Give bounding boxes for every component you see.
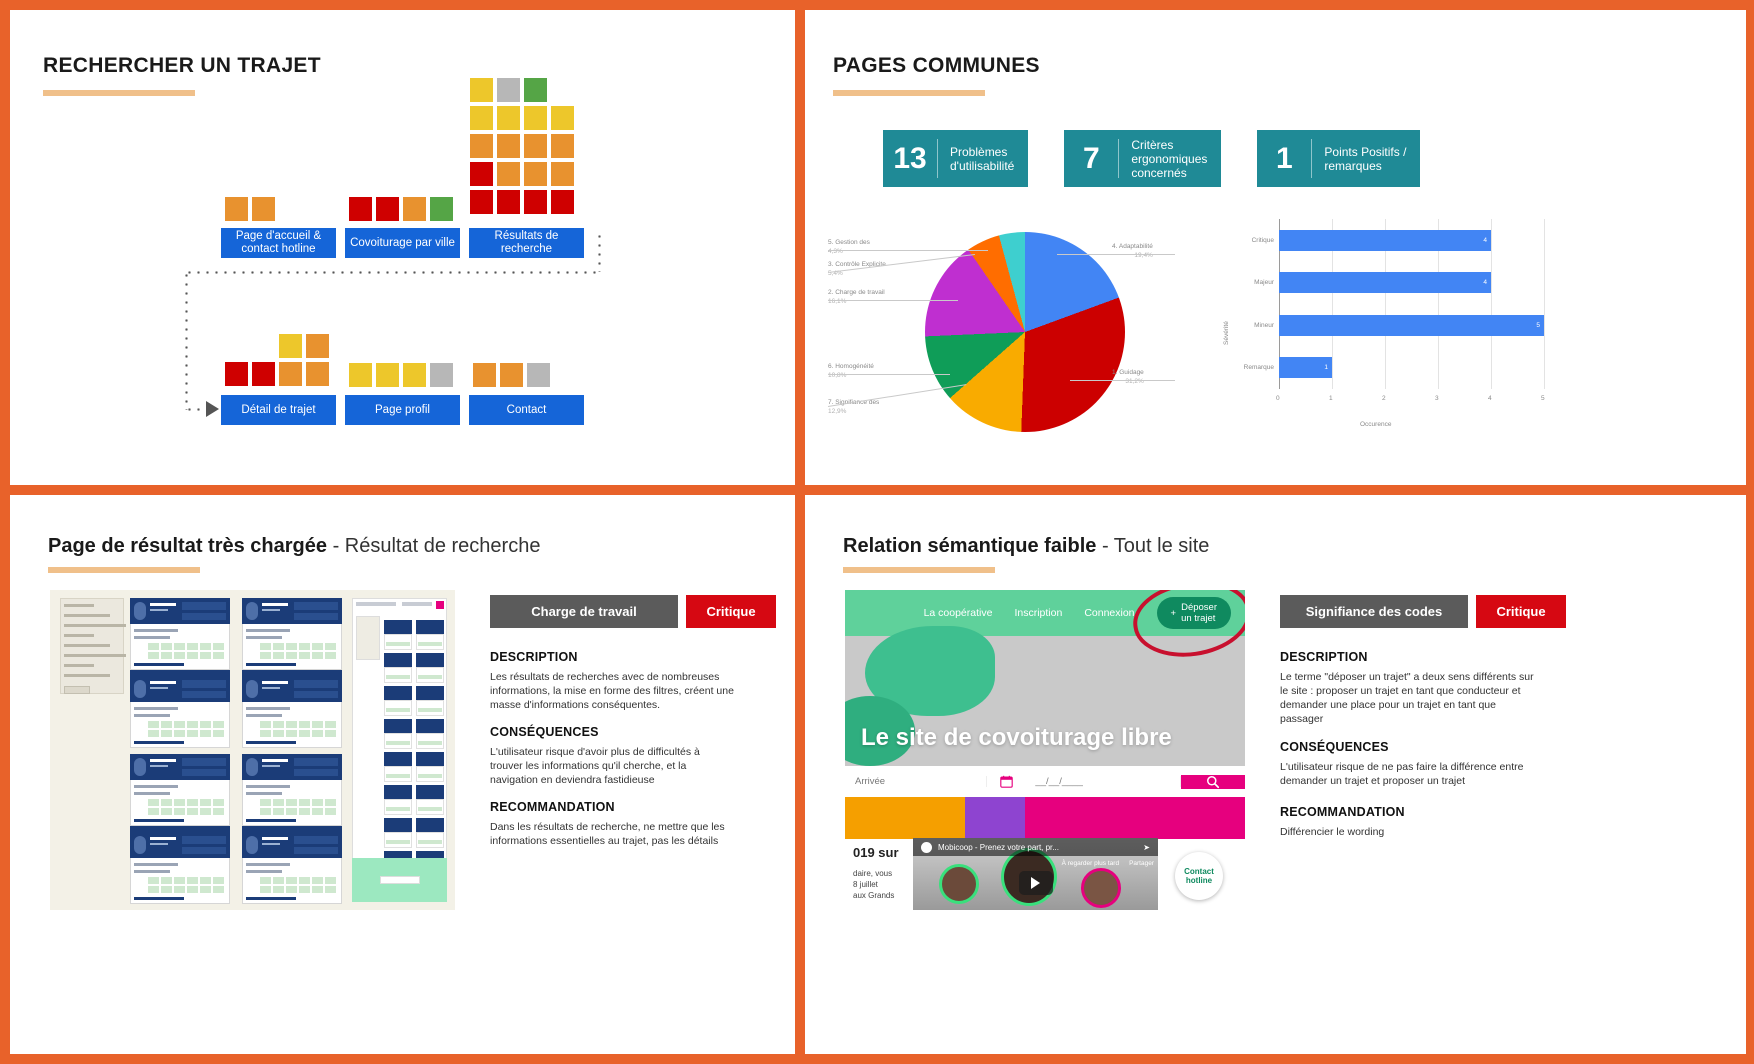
mock-line: [134, 897, 184, 900]
kpi-label-line: d'utilisabilité: [950, 159, 1014, 173]
section-body-description: Les résultats de recherches avec de nomb…: [490, 670, 735, 712]
mock-availability-cell: [273, 877, 284, 884]
pie-callout-guidage: 1. Guidage 31,2%: [1112, 368, 1144, 386]
tile: [251, 361, 276, 387]
mock-line: [246, 819, 296, 822]
mock-availability-cell: [325, 808, 336, 815]
section-heading-recommandation: RECOMMANDATION: [490, 800, 615, 814]
node-contact[interactable]: Contact: [469, 395, 584, 425]
pie-leader-line: [828, 384, 966, 407]
kpi-number: 1: [1257, 130, 1311, 187]
mock-button: [64, 686, 90, 694]
site-search-bar: Arrivée __/__/____: [845, 766, 1245, 797]
bar-chart-plot-area: 012345Critique4Majeur4Mineur5Remarque1: [1237, 219, 1552, 396]
mock-line: [246, 897, 296, 900]
tile-group-profil: [347, 361, 463, 389]
mock-availability-cell: [273, 652, 284, 659]
page-title-light: - Résultat de recherche: [327, 535, 540, 557]
mock-availability-cell: [325, 799, 336, 806]
search-button[interactable]: [1181, 775, 1245, 789]
mock-availability-cell: [200, 877, 211, 884]
mock-badge: [294, 602, 338, 610]
mock-availability-cell: [312, 886, 323, 893]
bar-chart-x-tick: 3: [1435, 395, 1439, 402]
mock-availability-cell: [312, 877, 323, 884]
section-heading-consequences: CONSÉQUENCES: [1280, 740, 1389, 754]
bar-chart-x-tick: 1: [1329, 395, 1333, 402]
section-body-consequences: L'utilisateur risque de ne pas faire la …: [1280, 760, 1535, 788]
mock-availability-cell: [312, 730, 323, 737]
mock-availability-cell: [148, 730, 159, 737]
mock-line: [64, 604, 94, 607]
page-title-bold: Relation sémantique faible: [843, 535, 1096, 557]
screenshot-mock-results: [50, 590, 455, 910]
nav-link-cooperative[interactable]: La coopérative: [924, 607, 993, 619]
mock-line: [134, 819, 184, 822]
mock-availability-cell: [174, 799, 185, 806]
mock-badge: [182, 769, 226, 776]
bar-chart-bar: 4: [1279, 230, 1491, 251]
mock-availability-cell: [174, 730, 185, 737]
mock-availability-cell: [148, 799, 159, 806]
node-page-profil[interactable]: Page profil: [345, 395, 460, 425]
connector-vertical-left: [185, 271, 188, 410]
bar-chart-y-tick: Mineur: [1237, 322, 1274, 329]
connector-vertical-right: [598, 232, 601, 272]
mock-availability-cell: [148, 886, 159, 893]
mock-availability-cell: [273, 886, 284, 893]
tile-group-accueil: [223, 195, 283, 223]
kpi-label: Critères ergonomiques concernés: [1119, 138, 1221, 180]
mock-availability-cell: [161, 799, 172, 806]
mock-line: [246, 714, 282, 717]
mock-line: [386, 774, 410, 778]
mock-availability-cell: [187, 721, 198, 728]
pie-disc: [925, 232, 1125, 432]
mock-availability-cell: [187, 886, 198, 893]
video-embed[interactable]: Mobicoop - Prenez votre part, pr... ➤ À …: [913, 838, 1158, 910]
mock-availability-cell: [273, 643, 284, 650]
node-detail-de-trajet[interactable]: Détail de trajet: [221, 395, 336, 425]
tile: [305, 361, 330, 387]
mock-line: [64, 624, 126, 627]
mock-availability-cell: [174, 721, 185, 728]
mock-badge: [294, 836, 338, 844]
kpi-card-criteres: 7 Critères ergonomiques concernés: [1064, 130, 1221, 187]
mock-line: [262, 759, 288, 762]
tile: [469, 189, 494, 215]
tile: [496, 105, 521, 131]
panel-relation-semantique-faible: Relation sémantique faible - Tout le sit…: [805, 495, 1746, 1054]
mock-availability-cell: [213, 808, 224, 815]
bar-chart-y-tick: Critique: [1237, 237, 1274, 244]
tile: [469, 161, 494, 187]
section-body-recommandation: Dans les résultats de recherche, ne mett…: [490, 820, 735, 848]
mock-button: [380, 876, 420, 884]
node-label-line: Covoiturage par ville: [350, 237, 455, 250]
bubble-line: Contact: [1184, 867, 1214, 876]
mock-availability-cell: [260, 730, 271, 737]
tile: [348, 362, 373, 388]
tag-row: Charge de travail Critique: [490, 595, 776, 628]
tile: [375, 362, 400, 388]
mock-line: [134, 785, 178, 788]
mock-availability-cell: [161, 643, 172, 650]
title-rule: [843, 567, 995, 573]
kpi-label-line: remarques: [1324, 159, 1406, 173]
tile: [550, 105, 575, 131]
tile: [496, 77, 521, 103]
kpi-card-points-positifs: 1 Points Positifs / remarques: [1257, 130, 1420, 187]
mock-availability-cell: [213, 721, 224, 728]
mock-availability-cell: [200, 721, 211, 728]
mock-availability-cell: [213, 886, 224, 893]
mock-line: [134, 663, 184, 666]
tile: [496, 133, 521, 159]
mock-availability-cell: [260, 652, 271, 659]
mock-line: [246, 741, 296, 744]
mock-availability-cell: [200, 799, 211, 806]
pie-leader-line: [828, 374, 950, 375]
mock-line: [246, 870, 282, 873]
mock-line: [418, 807, 442, 811]
nav-link-connexion[interactable]: Connexion: [1084, 607, 1134, 619]
tile: [523, 77, 548, 103]
mock-mini-filter: [356, 616, 380, 660]
kpi-label: Problèmes d'utilisabilité: [938, 145, 1028, 173]
page-title-bold: Page de résultat très chargée: [48, 535, 327, 557]
tile: [429, 196, 454, 222]
kpi-label-line: concernés: [1131, 166, 1207, 180]
mock-availability-cell: [187, 877, 198, 884]
tag-row: Signifiance des codes Critique: [1280, 595, 1566, 628]
tile: [251, 196, 276, 222]
news-line: daire, vous: [853, 868, 894, 879]
tag-severity: Critique: [686, 595, 776, 628]
node-resultats-de-recherche[interactable]: Résultats de recherche: [469, 228, 584, 258]
arrival-input[interactable]: Arrivée: [845, 776, 987, 787]
tile: [224, 196, 249, 222]
kpi-row: 13 Problèmes d'utilisabilité 7 Critères …: [883, 130, 1420, 187]
mock-line: [64, 634, 94, 637]
pie-chart: 5. Gestion des 4,3% 3. Contrôle Explicit…: [825, 210, 1205, 440]
node-label-line: contact hotline: [236, 243, 321, 256]
mock-line: [418, 642, 442, 646]
calendar-icon[interactable]: [987, 775, 1025, 788]
node-label-line: Contact: [507, 404, 547, 417]
mock-availability-cell: [299, 730, 310, 737]
mock-line: [134, 863, 178, 866]
mock-availability-cell: [299, 808, 310, 815]
kpi-label-line: Problèmes: [950, 145, 1014, 159]
tile: [550, 189, 575, 215]
tag-criterion: Signifiance des codes: [1280, 595, 1468, 628]
mock-line: [418, 840, 442, 844]
pie-leader-line: [828, 300, 958, 301]
mock-availability-cell: [260, 643, 271, 650]
bar-chart-x-tick: 5: [1541, 395, 1545, 402]
slide-grid: RECHERCHER UN TRAJET: [0, 0, 1754, 1064]
connector-horizontal: [185, 271, 600, 274]
mock-availability-cell: [200, 808, 211, 815]
pie-callout-signifiance: 7. Signifiance des 12,9%: [828, 398, 879, 416]
mock-availability-cell: [161, 886, 172, 893]
section-body-description: Le terme "déposer un trajet" a deux sens…: [1280, 670, 1535, 726]
mock-line: [150, 681, 176, 684]
bar-chart-bar: 5: [1279, 315, 1544, 336]
tile: [469, 133, 494, 159]
mock-availability-cell: [213, 799, 224, 806]
mock-badge: [182, 847, 226, 854]
section-heading-consequences: CONSÉQUENCES: [490, 725, 599, 739]
pie-leader-line: [828, 250, 988, 251]
node-page-accueil[interactable]: Page d'accueil & contact hotline: [221, 228, 336, 258]
mock-avatar: [246, 836, 258, 854]
mock-availability-cell: [273, 799, 284, 806]
tile: [472, 362, 497, 388]
news-fragment-body: daire, vous 8 juillet aux Grands num aux…: [853, 868, 894, 910]
nav-link-inscription[interactable]: Inscription: [1014, 607, 1062, 619]
mock-line: [134, 741, 184, 744]
mock-line: [418, 675, 442, 679]
mock-availability-cell: [200, 643, 211, 650]
video-title: Mobicoop - Prenez votre part, pr...: [938, 843, 1059, 852]
bar-chart-bar: 4: [1279, 272, 1491, 293]
mock-availability-cell: [286, 643, 297, 650]
mock-availability-cell: [174, 643, 185, 650]
mock-availability-cell: [273, 721, 284, 728]
mock-line: [64, 654, 126, 657]
flow-diagram: Page d'accueil & contact hotline Covoitu…: [10, 10, 795, 485]
page-title: PAGES COMMUNES: [833, 54, 1040, 78]
share-icon[interactable]: ➤: [1143, 843, 1150, 852]
mock-line: [150, 609, 168, 611]
mock-accent: [436, 601, 444, 609]
mock-line: [418, 708, 442, 712]
mock-badge: [294, 613, 338, 620]
mock-availability-cell: [174, 886, 185, 893]
kpi-label-line: Critères: [1131, 138, 1207, 152]
mock-line: [150, 759, 176, 762]
bubble-line: hotline: [1184, 876, 1214, 885]
mock-availability-cell: [148, 721, 159, 728]
mock-availability-cell: [174, 652, 185, 659]
mock-availability-cell: [286, 721, 297, 728]
mock-availability-cell: [187, 808, 198, 815]
mock-availability-cell: [161, 877, 172, 884]
pie-leader-line: [1070, 380, 1175, 381]
mock-line: [246, 792, 282, 795]
mock-line: [262, 681, 288, 684]
tile: [278, 361, 303, 387]
mock-availability-cell: [273, 730, 284, 737]
mock-availability-cell: [299, 643, 310, 650]
mock-availability-cell: [299, 652, 310, 659]
date-input[interactable]: __/__/____: [1025, 776, 1181, 787]
mock-availability-cell: [299, 799, 310, 806]
mock-line: [386, 708, 410, 712]
mock-badge: [182, 613, 226, 620]
mock-availability-cell: [273, 808, 284, 815]
mock-line: [134, 636, 170, 639]
mock-availability-cell: [299, 877, 310, 884]
kpi-number: 7: [1064, 130, 1118, 187]
section-heading-recommandation: RECOMMANDATION: [1280, 805, 1405, 819]
watch-later-label[interactable]: À regarder plus tard: [1062, 860, 1119, 867]
tile-group-resultats: [468, 76, 580, 216]
clock-icon: [921, 842, 932, 853]
mock-availability-cell: [161, 721, 172, 728]
mock-availability-cell: [200, 652, 211, 659]
mock-line: [150, 603, 176, 606]
mock-line: [386, 807, 410, 811]
panel-pages-communes: PAGES COMMUNES 13 Problèmes d'utilisabil…: [805, 10, 1746, 485]
bar-chart-x-tick: 4: [1488, 395, 1492, 402]
mock-availability-cell: [187, 799, 198, 806]
mock-availability-cell: [200, 730, 211, 737]
share-label[interactable]: Partager: [1129, 860, 1154, 867]
tile: [523, 189, 548, 215]
tile: [402, 362, 427, 388]
tile: [496, 189, 521, 215]
mock-availability-cell: [325, 730, 336, 737]
mock-badge: [182, 680, 226, 688]
mock-badge: [182, 691, 226, 698]
node-label-line: recherche: [495, 243, 559, 256]
mock-availability-cell: [260, 877, 271, 884]
mock-badge: [294, 680, 338, 688]
section-body-recommandation: Différencier le wording: [1280, 825, 1535, 839]
mock-availability-cell: [200, 886, 211, 893]
mock-availability-cell: [286, 877, 297, 884]
mock-availability-cell: [260, 721, 271, 728]
mock-availability-cell: [213, 652, 224, 659]
mock-line: [246, 863, 290, 866]
bar-chart-gridline: [1544, 219, 1545, 389]
mock-line: [150, 765, 168, 767]
pie-callout-label: 6. Homogénéité: [828, 362, 874, 371]
mock-badge: [182, 836, 226, 844]
news-line: aux Grands: [853, 890, 894, 901]
mock-line: [386, 675, 410, 679]
pie-callout-label: 4. Adaptabilité: [1112, 242, 1153, 251]
color-strip: [845, 797, 1245, 839]
mock-availability-cell: [260, 886, 271, 893]
mock-avatar: [134, 680, 146, 698]
bar-chart-y-axis-title: Sévérité: [1223, 321, 1230, 345]
pie-callout-homogeneite: 6. Homogénéité 10,8%: [828, 362, 874, 380]
panel-page-resultat-chargee: Page de résultat très chargée - Résultat…: [10, 495, 795, 1054]
tile: [523, 133, 548, 159]
mock-line: [386, 642, 410, 646]
mock-line: [246, 707, 290, 710]
tile: [526, 362, 551, 388]
mock-availability-cell: [312, 808, 323, 815]
video-topbar: Mobicoop - Prenez votre part, pr... ➤: [913, 838, 1158, 856]
pie-callout-value: 16,1%: [828, 297, 885, 306]
tile: [348, 196, 373, 222]
mock-avatar: [134, 602, 146, 620]
news-line: num: [853, 909, 894, 910]
mock-availability-cell: [299, 721, 310, 728]
mock-line: [246, 663, 296, 666]
tile-group-detail: [223, 332, 339, 388]
pie-callout-gestion: 5. Gestion des 4,3%: [828, 238, 870, 256]
mock-availability-cell: [260, 808, 271, 815]
mock-availability-cell: [161, 730, 172, 737]
mock-availability-cell: [312, 643, 323, 650]
mock-availability-cell: [148, 652, 159, 659]
mock-badge: [182, 758, 226, 766]
mock-line: [134, 792, 170, 795]
mock-availability-cell: [260, 799, 271, 806]
mock-availability-cell: [325, 643, 336, 650]
tile: [523, 105, 548, 131]
mock-line: [262, 603, 288, 606]
node-covoiturage-par-ville[interactable]: Covoiturage par ville: [345, 228, 460, 258]
mock-line: [386, 741, 410, 745]
mock-badge: [294, 847, 338, 854]
kpi-label-line: ergonomiques: [1131, 152, 1207, 166]
bar-chart-gridline: [1491, 219, 1492, 389]
bar-chart-y-tick: Remarque: [1237, 364, 1274, 371]
mock-availability-cell: [148, 808, 159, 815]
mock-availability-cell: [312, 799, 323, 806]
avatar: [1081, 868, 1121, 908]
mock-availability-cell: [325, 721, 336, 728]
mock-availability-cell: [325, 886, 336, 893]
mock-line: [134, 707, 178, 710]
mock-availability-cell: [148, 643, 159, 650]
mock-line: [246, 629, 290, 632]
pie-callout-value: 12,9%: [828, 407, 879, 416]
contact-hotline-bubble[interactable]: Contact hotline: [1175, 852, 1223, 900]
connector-arrow-icon: [206, 401, 219, 417]
page-title: Page de résultat très chargée - Résultat…: [48, 535, 540, 558]
mock-availability-cell: [325, 877, 336, 884]
pie-callout-value: 31,2%: [1112, 377, 1144, 386]
kpi-number: 13: [883, 130, 937, 187]
section-heading-description: DESCRIPTION: [490, 650, 578, 664]
pie-callout-charge: 2. Charge de travail 16,1%: [828, 288, 885, 306]
mock-availability-cell: [213, 730, 224, 737]
tile: [375, 196, 400, 222]
play-icon[interactable]: [1019, 871, 1053, 895]
mock-availability-cell: [161, 652, 172, 659]
pie-callout-label: 1. Guidage: [1112, 368, 1144, 377]
mock-availability-cell: [174, 808, 185, 815]
mock-availability-cell: [213, 643, 224, 650]
kpi-label-line: Points Positifs /: [1324, 145, 1406, 159]
tile: [224, 361, 249, 387]
tile: [278, 333, 303, 359]
mock-availability-cell: [286, 730, 297, 737]
mock-line: [134, 714, 170, 717]
tag-criterion: Charge de travail: [490, 595, 678, 628]
video-actions: À regarder plus tard Partager: [1062, 860, 1154, 867]
mock-line: [262, 843, 280, 845]
section-heading-description: DESCRIPTION: [1280, 650, 1368, 664]
mock-line: [356, 602, 396, 606]
bar-chart-x-tick: 2: [1382, 395, 1386, 402]
mock-availability-cell: [187, 730, 198, 737]
mock-badge: [182, 602, 226, 610]
pie-callout-value: 4,3%: [828, 247, 870, 256]
mock-availability-cell: [299, 886, 310, 893]
mock-avatar: [134, 758, 146, 776]
pie-leader-line: [1057, 254, 1175, 255]
mock-line: [386, 840, 410, 844]
